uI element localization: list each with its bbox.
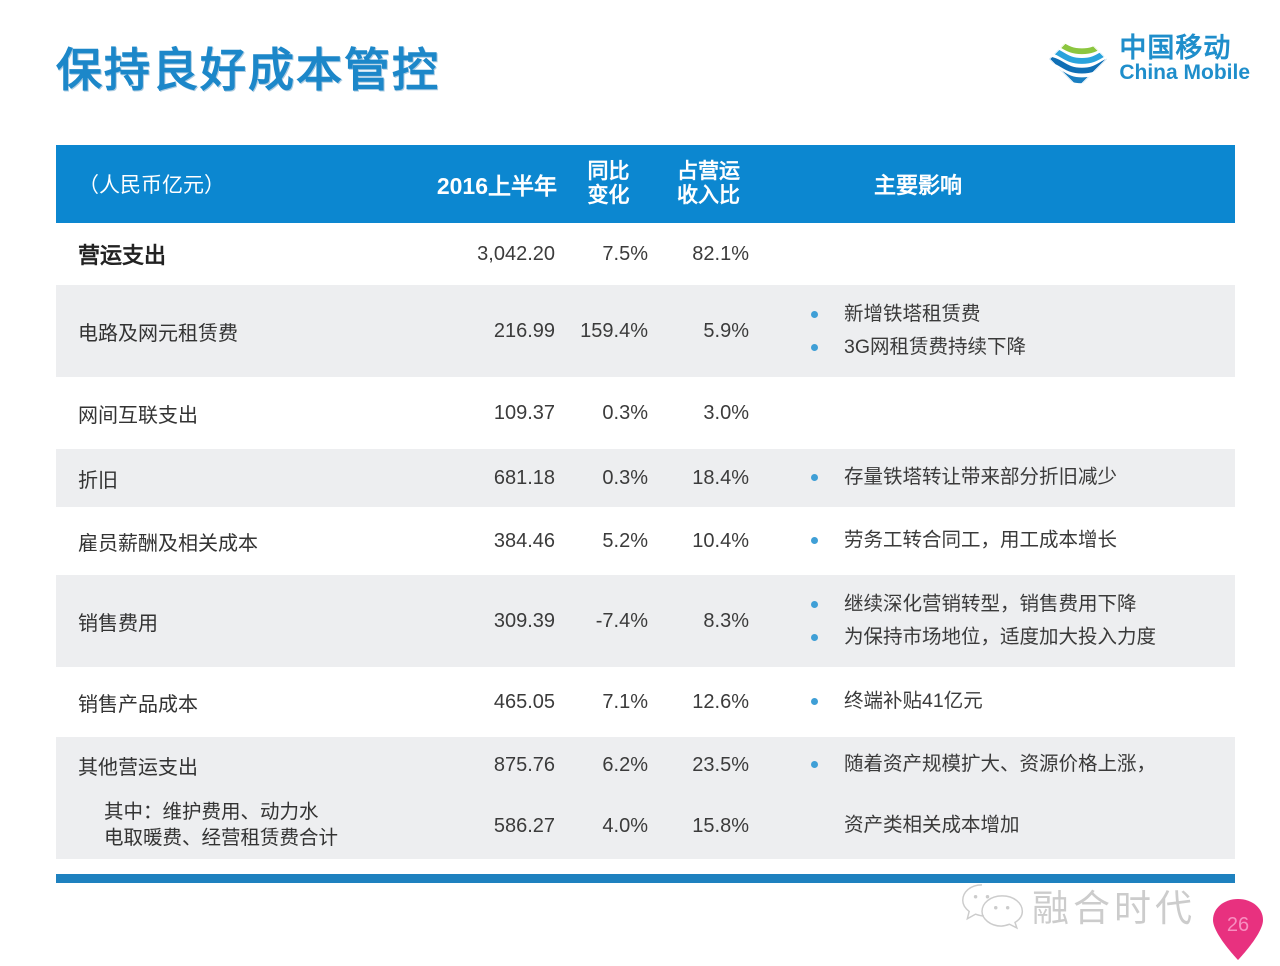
- china-mobile-logo: 中国移动 China Mobile: [1047, 28, 1250, 90]
- row-label-line2: 电取暖费、经营租赁费合计: [104, 826, 338, 852]
- impact-bullet: 存量铁塔转让带来部分折旧减少: [811, 463, 1235, 492]
- row-change: 5.2%: [561, 507, 656, 575]
- row-impact: [761, 223, 1235, 285]
- row-label: 销售费用: [56, 575, 416, 667]
- row-impact: 终端补贴41亿元: [761, 667, 1235, 737]
- bullet-dot-icon: [811, 474, 818, 481]
- china-mobile-swirl-icon: [1047, 28, 1109, 90]
- impact-text: 3G网租赁费持续下降: [844, 333, 1235, 362]
- row-impact: [761, 377, 1235, 449]
- row-label: 网间互联支出: [56, 377, 416, 449]
- row-change: 6.2%: [561, 737, 656, 793]
- header-impact: 主要影响: [761, 145, 1235, 223]
- row-ratio: 18.4%: [656, 449, 761, 507]
- row-change: -7.4%: [561, 575, 656, 667]
- row-impact: 继续深化营销转型，销售费用下降 为保持市场地位，适度加大投入力度: [761, 575, 1235, 667]
- row-value: 586.27: [416, 793, 561, 859]
- row-change: 7.1%: [561, 667, 656, 737]
- logo-text-en: China Mobile: [1119, 62, 1250, 84]
- row-impact: 劳务工转合同工，用工成本增长: [761, 507, 1235, 575]
- row-ratio: 3.0%: [656, 377, 761, 449]
- impact-text: 资产类相关成本增加: [844, 811, 1235, 840]
- row-value: 3,042.20: [416, 223, 561, 285]
- row-value: 875.76: [416, 737, 561, 793]
- row-ratio: 82.1%: [656, 223, 761, 285]
- bullet-dot-icon: [811, 344, 818, 351]
- impact-text: 存量铁塔转让带来部分折旧减少: [844, 463, 1235, 492]
- impact-bullet: 劳务工转合同工，用工成本增长: [811, 526, 1235, 555]
- header-change-line1: 同比: [588, 160, 630, 184]
- watermark-text: 融合时代: [1032, 878, 1196, 932]
- table-row: 营运支出 3,042.20 7.5% 82.1%: [56, 223, 1235, 285]
- impact-text: 新增铁塔租赁费: [844, 300, 1235, 329]
- row-change: 7.5%: [561, 223, 656, 285]
- row-change: 4.0%: [561, 793, 656, 859]
- row-label: 销售产品成本: [56, 667, 416, 737]
- header-period: 2016上半年: [416, 145, 561, 223]
- wechat-icon: [960, 879, 1026, 931]
- row-value: 681.18: [416, 449, 561, 507]
- impact-bullet: 随着资产规模扩大、资源价格上涨，: [811, 750, 1235, 779]
- table-row: 折旧 681.18 0.3% 18.4% 存量铁塔转让带来部分折旧减少: [56, 449, 1235, 507]
- header-ratio-line1: 占营运: [677, 160, 740, 184]
- bullet-dot-icon: [811, 698, 818, 705]
- header-unit: （人民币亿元）: [56, 145, 416, 223]
- impact-bullet: 继续深化营销转型，销售费用下降: [811, 590, 1235, 619]
- page-title: 保持良好成本管控: [56, 34, 440, 100]
- row-ratio: 15.8%: [656, 793, 761, 859]
- row-label: 其他营运支出: [56, 737, 416, 793]
- impact-text: 终端补贴41亿元: [844, 687, 1235, 716]
- bullet-dot-icon: [811, 537, 818, 544]
- row-value: 216.99: [416, 285, 561, 377]
- row-impact: 存量铁塔转让带来部分折旧减少: [761, 449, 1235, 507]
- bullet-dot-icon: [811, 311, 818, 318]
- row-ratio: 8.3%: [656, 575, 761, 667]
- wechat-watermark: 融合时代: [960, 878, 1196, 932]
- row-ratio: 12.6%: [656, 667, 761, 737]
- table-row: 其中：维护费用、动力水 电取暖费、经营租赁费合计 586.27 4.0% 15.…: [56, 793, 1235, 859]
- table-row: 其他营运支出 875.76 6.2% 23.5% 随着资产规模扩大、资源价格上涨…: [56, 737, 1235, 793]
- table-row: 雇员薪酬及相关成本 384.46 5.2% 10.4% 劳务工转合同工，用工成本…: [56, 507, 1235, 575]
- row-label-line1: 其中：维护费用、动力水: [104, 800, 338, 826]
- bullet-dot-icon: [811, 761, 818, 768]
- table-row: 网间互联支出 109.37 0.3% 3.0%: [56, 377, 1235, 449]
- table-row: 电路及网元租赁费 216.99 159.4% 5.9% 新增铁塔租赁费 3G网租…: [56, 285, 1235, 377]
- header-ratio: 占营运 收入比: [656, 145, 761, 223]
- bullet-dot-icon: [811, 634, 818, 641]
- row-value: 465.05: [416, 667, 561, 737]
- row-label: 电路及网元租赁费: [56, 285, 416, 377]
- logo-text-cn: 中国移动: [1119, 34, 1250, 63]
- row-value: 309.39: [416, 575, 561, 667]
- impact-text: 随着资产规模扩大、资源价格上涨，: [844, 750, 1235, 779]
- impact-bullet: 资产类相关成本增加: [811, 811, 1235, 840]
- row-change: 0.3%: [561, 449, 656, 507]
- impact-bullet: 新增铁塔租赁费: [811, 300, 1235, 329]
- row-ratio: 23.5%: [656, 737, 761, 793]
- page-number-pin: 26: [1211, 898, 1265, 960]
- table-row: 销售费用 309.39 -7.4% 8.3% 继续深化营销转型，销售费用下降 为…: [56, 575, 1235, 667]
- row-ratio: 5.9%: [656, 285, 761, 377]
- row-ratio: 10.4%: [656, 507, 761, 575]
- header-change-line2: 变化: [588, 184, 630, 208]
- impact-text: 劳务工转合同工，用工成本增长: [844, 526, 1235, 555]
- table-row: 销售产品成本 465.05 7.1% 12.6% 终端补贴41亿元: [56, 667, 1235, 737]
- row-value: 109.37: [416, 377, 561, 449]
- row-impact: 随着资产规模扩大、资源价格上涨，: [761, 737, 1235, 793]
- cost-table: （人民币亿元） 2016上半年 同比 变化 占营运 收入比 主要影响 营运支出 …: [56, 145, 1235, 859]
- impact-bullet: 为保持市场地位，适度加大投入力度: [811, 623, 1235, 652]
- page-number: 26: [1211, 914, 1265, 937]
- header-change: 同比 变化: [561, 145, 656, 223]
- impact-bullet: 终端补贴41亿元: [811, 687, 1235, 716]
- impact-text: 为保持市场地位，适度加大投入力度: [844, 623, 1235, 652]
- header-ratio-line2: 收入比: [677, 184, 740, 208]
- impact-text: 继续深化营销转型，销售费用下降: [844, 590, 1235, 619]
- row-label: 折旧: [56, 449, 416, 507]
- row-change: 159.4%: [561, 285, 656, 377]
- row-change: 0.3%: [561, 377, 656, 449]
- table-header-row: （人民币亿元） 2016上半年 同比 变化 占营运 收入比 主要影响: [56, 145, 1235, 223]
- row-value: 384.46: [416, 507, 561, 575]
- bullet-dot-icon: [811, 601, 818, 608]
- row-label: 营运支出: [56, 223, 416, 285]
- row-impact: 资产类相关成本增加: [761, 793, 1235, 859]
- impact-bullet: 3G网租赁费持续下降: [811, 333, 1235, 362]
- row-label: 其中：维护费用、动力水 电取暖费、经营租赁费合计: [56, 793, 416, 859]
- row-impact: 新增铁塔租赁费 3G网租赁费持续下降: [761, 285, 1235, 377]
- row-label: 雇员薪酬及相关成本: [56, 507, 416, 575]
